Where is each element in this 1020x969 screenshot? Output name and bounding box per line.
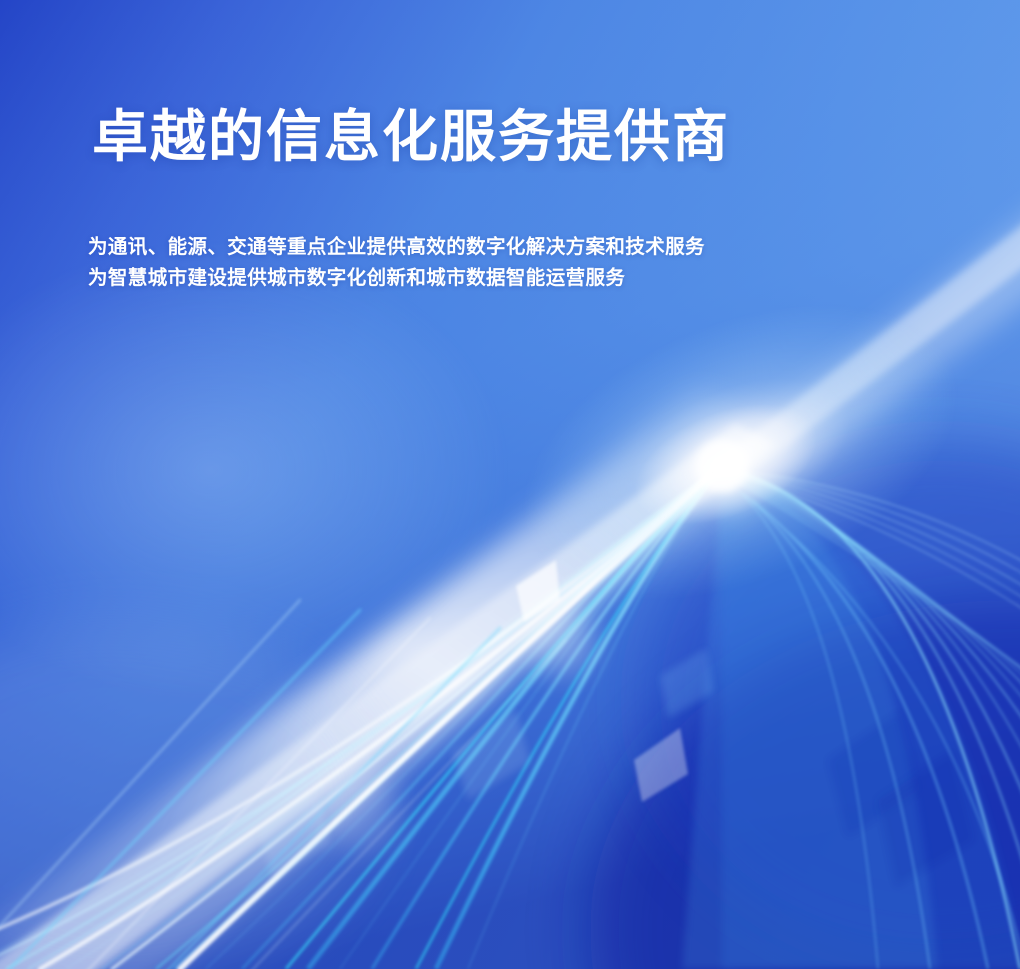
hero-banner: 卓越的信息化服务提供商 为通讯、能源、交通等重点企业提供高效的数字化解决方案和技… bbox=[0, 0, 1020, 969]
background-artwork bbox=[0, 0, 1020, 969]
